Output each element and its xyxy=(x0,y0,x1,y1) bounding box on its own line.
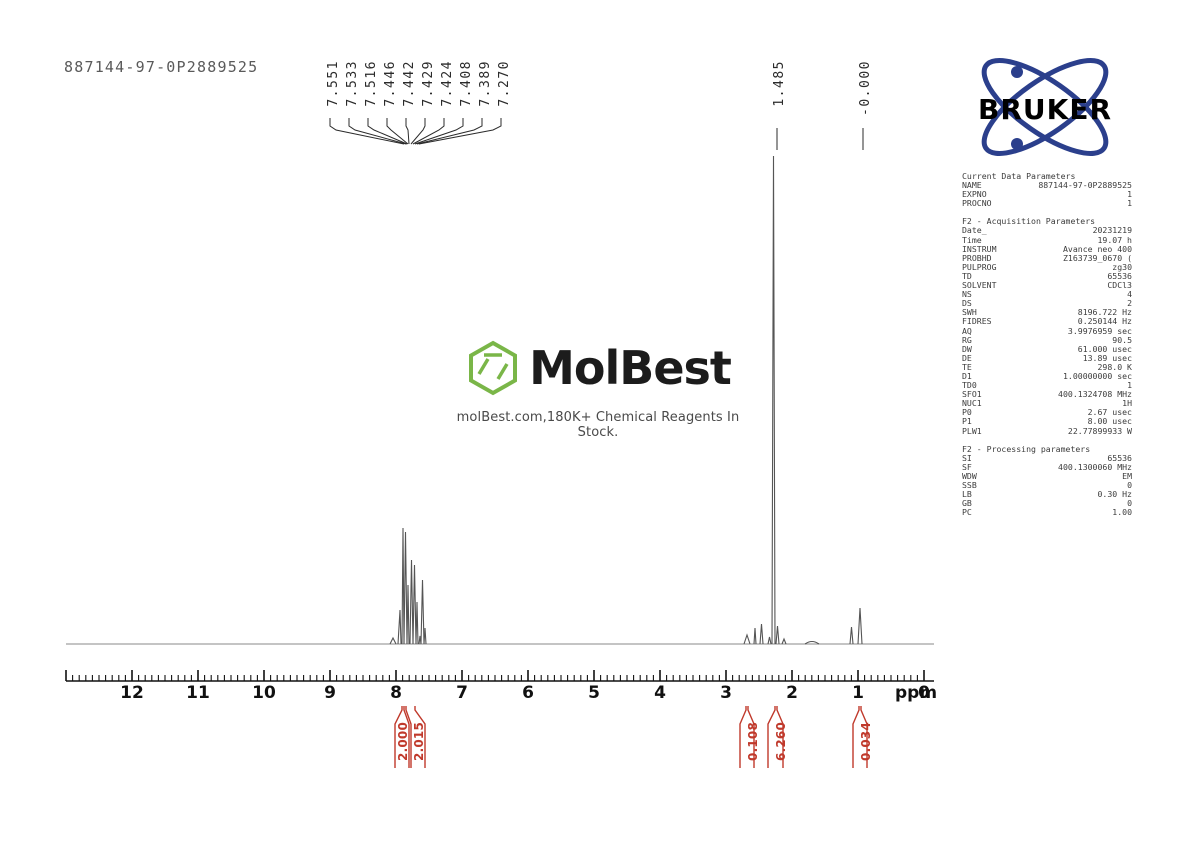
param-value: 1.00 xyxy=(1112,508,1132,517)
param-row: PROCNO1 xyxy=(962,199,1132,208)
param-row: PLW122.77899933 W xyxy=(962,427,1132,436)
param-value: 400.1300060 MHz xyxy=(1058,463,1132,472)
axis-tick-label: 5 xyxy=(588,683,600,703)
axis-tick-label: 9 xyxy=(324,683,336,703)
integral-value: 0.034 xyxy=(859,722,873,761)
param-row: PC1.00 xyxy=(962,508,1132,517)
axis-tick-label: 7 xyxy=(456,683,468,703)
axis-tick-label: 1 xyxy=(852,683,864,703)
peak-label: 7.516 xyxy=(364,60,379,107)
param-value: 887144-97-0P2889525 xyxy=(1038,181,1132,190)
axis-tick-label: 12 xyxy=(120,683,144,703)
param-value: 22.77899933 W xyxy=(1068,427,1132,436)
bruker-logo: BRUKER xyxy=(960,55,1130,160)
peak-group-aromatic xyxy=(390,528,426,644)
spectrum-title: 887144-97-0P2889525 xyxy=(64,58,258,76)
peak-label: 7.424 xyxy=(440,60,455,107)
peak-label: 7.551 xyxy=(326,60,341,107)
bruker-wordmark: BRUKER xyxy=(966,95,1124,125)
axis-tick-label: 8 xyxy=(390,683,402,703)
peak-group-tms xyxy=(850,608,862,644)
axis-tick-label: 11 xyxy=(186,683,210,703)
peak-label: 7.429 xyxy=(421,60,436,107)
param-row: NS4 xyxy=(962,290,1132,299)
peak-group-main-1485 xyxy=(768,156,786,644)
integral-value: 0.108 xyxy=(746,722,760,761)
axis-tick-label: 3 xyxy=(720,683,732,703)
ppm-axis-ruler[interactable] xyxy=(60,668,940,684)
param-row: D11.00000000 sec xyxy=(962,372,1132,381)
param-value: 1 xyxy=(1127,199,1132,208)
integral-brackets xyxy=(380,706,880,768)
peak-label: -0.000 xyxy=(858,60,873,116)
param-key: PLW1 xyxy=(962,427,982,436)
nmr-spectrum-trace xyxy=(60,140,940,650)
param-value: 400.1324708 MHz xyxy=(1058,390,1132,399)
axis-tick-label: 10 xyxy=(252,683,276,703)
integral-value: 6.260 xyxy=(774,722,788,761)
param-row: SOLVENTCDCl3 xyxy=(962,281,1132,290)
param-row: WDWEM xyxy=(962,472,1132,481)
axis-tick-label: 4 xyxy=(654,683,666,703)
param-key: PROCNO xyxy=(962,199,992,208)
acquisition-parameters-table: Current Data Parameters NAME887144-97-0P… xyxy=(962,172,1132,517)
axis-unit-label: ppm xyxy=(895,683,937,703)
param-row: AQ3.9976959 sec xyxy=(962,327,1132,336)
peak-label: 7.270 xyxy=(497,60,512,107)
param-row: LB0.30 Hz xyxy=(962,490,1132,499)
param-row: GB0 xyxy=(962,499,1132,508)
axis-tick-label: 2 xyxy=(786,683,798,703)
peak-label: 7.408 xyxy=(459,60,474,107)
integral-value: 2.000 xyxy=(396,722,410,761)
peak-group-impurity xyxy=(744,624,763,644)
integral-value: 2.015 xyxy=(412,722,426,761)
param-row: NAME887144-97-0P2889525 xyxy=(962,181,1132,190)
peak-label: 1.485 xyxy=(772,60,787,107)
param-row: SFO1400.1324708 MHz xyxy=(962,390,1132,399)
peak-label: 7.446 xyxy=(383,60,398,107)
param-row: SF400.1300060 MHz xyxy=(962,463,1132,472)
peak-label: 7.442 xyxy=(402,60,417,107)
axis-tick-label: 6 xyxy=(522,683,534,703)
param-key: PC xyxy=(962,508,972,517)
peak-label: 7.533 xyxy=(345,60,360,107)
peak-label: 7.389 xyxy=(478,60,493,107)
param-value: 1.00000000 sec xyxy=(1063,372,1132,381)
